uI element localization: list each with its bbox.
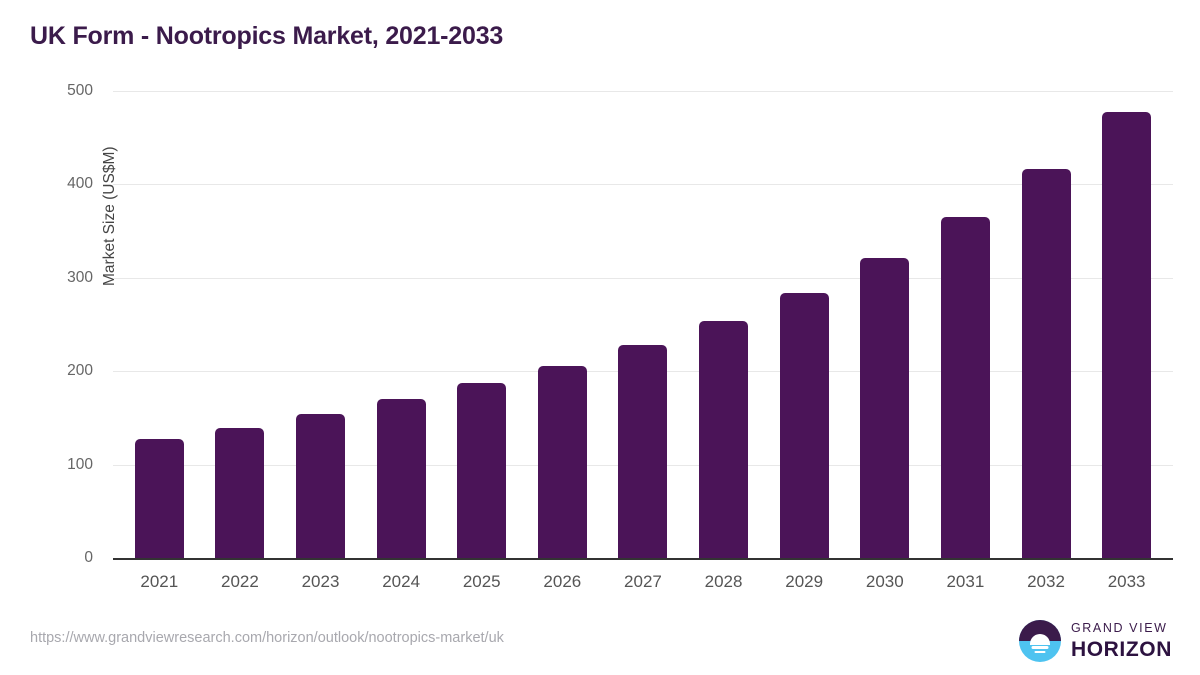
bar-group-2032: 2032 (1006, 91, 1087, 558)
bar-group-2025: 2025 (441, 91, 522, 558)
bar-2029[interactable] (780, 293, 829, 558)
gridline-0 (113, 558, 1173, 560)
bar-group-2023: 2023 (280, 91, 361, 558)
bar-2023[interactable] (296, 414, 345, 558)
x-tick-label-2032: 2032 (1027, 572, 1065, 592)
x-tick-label-2022: 2022 (221, 572, 259, 592)
chart-page: UK Form - Nootropics Market, 2021-2033 M… (0, 0, 1200, 675)
logo-line-1: GRAND VIEW (1071, 622, 1172, 635)
page-title: UK Form - Nootropics Market, 2021-2033 (30, 22, 503, 51)
bar-2031[interactable] (941, 217, 990, 558)
x-tick-label-2031: 2031 (946, 572, 984, 592)
x-tick-label-2021: 2021 (140, 572, 178, 592)
bar-2022[interactable] (215, 428, 264, 558)
bar-2024[interactable] (377, 399, 426, 558)
bar-group-2030: 2030 (844, 91, 925, 558)
x-tick-label-2024: 2024 (382, 572, 420, 592)
bar-group-2028: 2028 (683, 91, 764, 558)
bar-2025[interactable] (457, 383, 506, 558)
logo-text: GRAND VIEW HORIZON (1071, 622, 1172, 660)
bar-2027[interactable] (618, 345, 667, 558)
bar-group-2026: 2026 (522, 91, 603, 558)
bar-group-2031: 2031 (925, 91, 1006, 558)
bar-group-2024: 2024 (361, 91, 442, 558)
grand-view-horizon-logo: GRAND VIEW HORIZON (1019, 620, 1172, 662)
y-tick-label: 400 (33, 175, 93, 193)
y-tick-label: 0 (33, 549, 93, 567)
bar-group-2029: 2029 (764, 91, 845, 558)
y-tick-label: 500 (33, 82, 93, 100)
bar-2026[interactable] (538, 366, 587, 558)
bar-group-2027: 2027 (603, 91, 684, 558)
y-tick-label: 100 (33, 456, 93, 474)
bar-2030[interactable] (860, 258, 909, 558)
plot-area: 2021202220232024202520262027202820292030… (113, 91, 1173, 558)
bar-group-2022: 2022 (200, 91, 281, 558)
x-tick-label-2030: 2030 (866, 572, 904, 592)
y-tick-label: 300 (33, 269, 93, 287)
x-tick-label-2029: 2029 (785, 572, 823, 592)
bar-2028[interactable] (699, 321, 748, 558)
x-tick-label-2025: 2025 (463, 572, 501, 592)
x-tick-label-2027: 2027 (624, 572, 662, 592)
x-tick-label-2028: 2028 (705, 572, 743, 592)
y-tick-label: 200 (33, 362, 93, 380)
bars-container: 2021202220232024202520262027202820292030… (113, 91, 1173, 558)
horizon-sun-icon (1019, 620, 1061, 662)
bar-group-2033: 2033 (1086, 91, 1167, 558)
x-tick-label-2026: 2026 (543, 572, 581, 592)
source-url[interactable]: https://www.grandviewresearch.com/horizo… (30, 630, 504, 646)
bar-2021[interactable] (135, 439, 184, 558)
x-tick-label-2023: 2023 (302, 572, 340, 592)
bar-2032[interactable] (1022, 169, 1071, 558)
logo-line-2: HORIZON (1071, 639, 1172, 660)
bar-2033[interactable] (1102, 112, 1151, 558)
bar-group-2021: 2021 (119, 91, 200, 558)
x-tick-label-2033: 2033 (1108, 572, 1146, 592)
